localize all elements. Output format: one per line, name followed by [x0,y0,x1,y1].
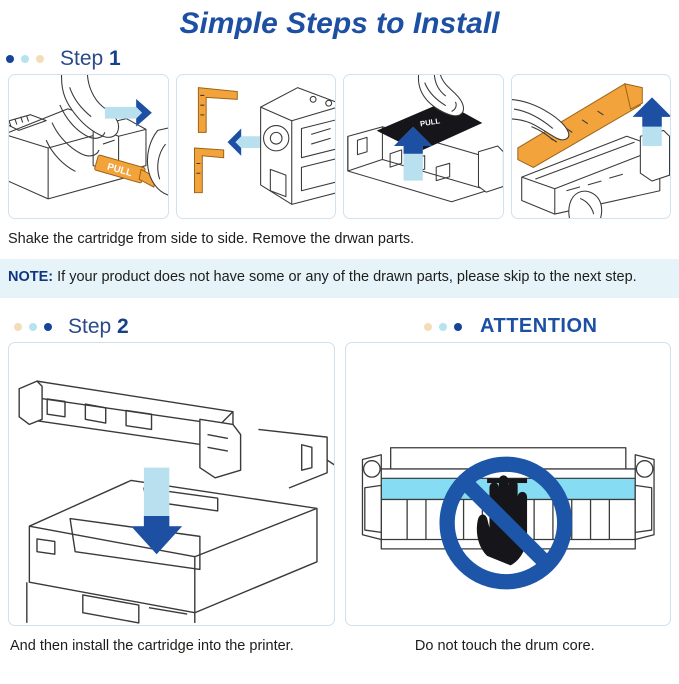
step-2-word: Step [68,315,111,338]
dot-tan-icon [424,323,432,331]
note-label: NOTE: [8,269,53,285]
remove-orange-clips-panel [176,74,337,219]
note-text: If your product does not have some or an… [53,269,637,285]
dot-blue-icon [454,323,462,331]
step-2-column: Step 2 [8,312,335,657]
remove-orange-cover-panel [511,74,672,219]
step-1-panel-row: PULL [0,74,679,219]
attention-caption: Do not touch the drum core. [345,626,672,657]
attention-heading: ATTENTION [345,312,672,342]
dot-blue-icon [44,323,52,331]
install-cartridge-panel [8,342,335,626]
step-1-word: Step [60,47,103,70]
page-title: Simple Steps to Install [0,0,679,44]
drum-warning-illustration [346,343,671,625]
step-2-label: Step 2 [68,315,129,339]
dot-blue-icon [6,55,14,63]
attention-column: ATTENTION [345,312,672,657]
step-1-label: Step 1 [60,47,121,71]
drum-core-warning-panel [345,342,672,626]
dot-cyan-icon [29,323,37,331]
dot-tan-icon [36,55,44,63]
dot-cyan-icon [439,323,447,331]
step-1-heading: Step 1 [0,44,679,74]
step-2-heading: Step 2 [8,312,335,342]
note-box: NOTE: If your product does not have some… [0,259,679,298]
install-cartridge-illustration [9,343,334,625]
step-2-caption: And then install the cartridge into the … [8,626,335,657]
dot-cyan-icon [21,55,29,63]
step-1-number: 1 [109,47,121,70]
orange-clips-illustration [177,75,336,218]
pull-tab-illustration: PULL [9,75,168,218]
pull-black-sheet-panel: PULL [343,74,504,219]
install-guide-page: Simple Steps to Install Step 1 [0,0,679,684]
black-sheet-illustration: PULL [344,75,503,218]
step-2-dots [8,323,52,331]
step-1-dots [0,55,44,63]
bottom-section: Step 2 [0,312,679,657]
step-1-caption: Shake the cartridge from side to side. R… [0,219,679,250]
attention-label: ATTENTION [480,315,597,338]
dot-tan-icon [14,323,22,331]
attention-dots [418,323,462,331]
step-2-number: 2 [117,315,129,338]
pull-tab-panel: PULL [8,74,169,219]
orange-cover-illustration [512,75,671,218]
